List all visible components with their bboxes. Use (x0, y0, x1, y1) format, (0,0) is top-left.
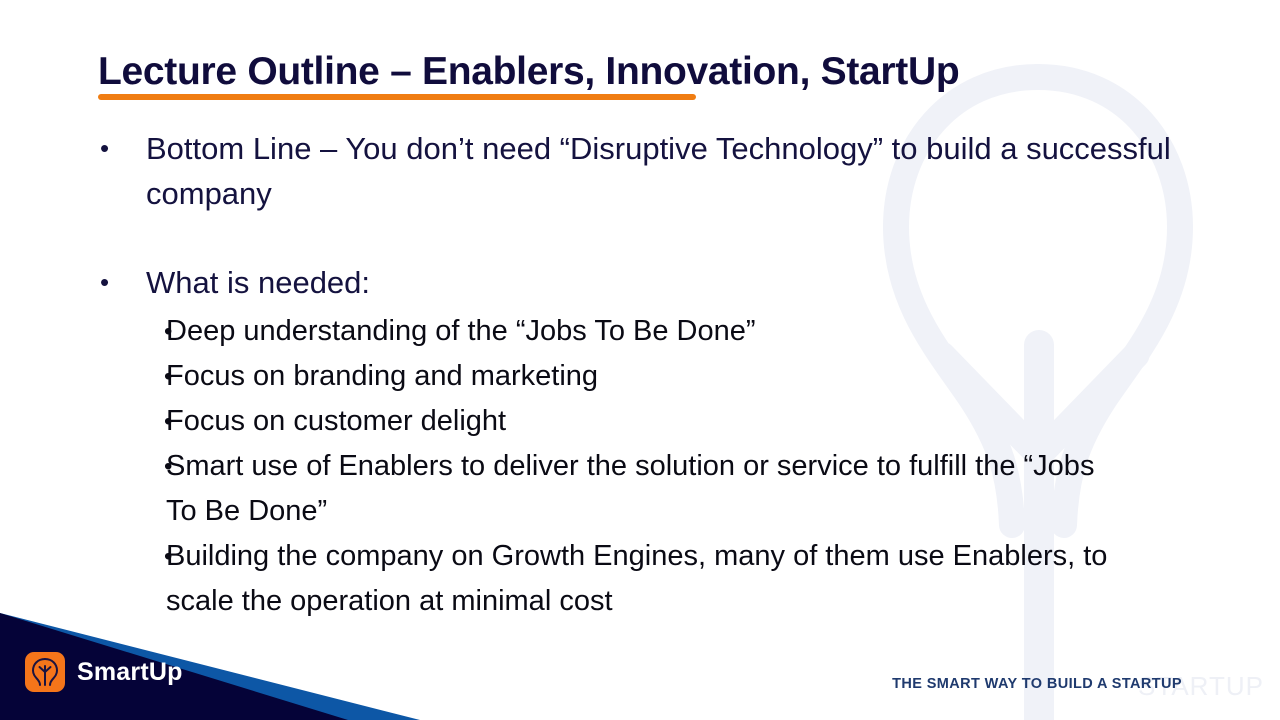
list-item-label: Focus on customer delight (166, 399, 1126, 444)
list-item: • What is needed: (96, 260, 1206, 305)
slide-canvas: STARTUP Lecture Outline – Enablers, Inno… (0, 0, 1280, 720)
bullet-glyph-icon: • (96, 534, 166, 579)
list-item: • Bottom Line – You don’t need “Disrupti… (96, 126, 1206, 216)
bullet-glyph-icon: • (96, 309, 166, 354)
sub-list: • Deep understanding of the “Jobs To Be … (96, 309, 1206, 624)
bullet-glyph-icon: • (96, 444, 166, 489)
list-item-label: Bottom Line – You don’t need “Disruptive… (146, 126, 1176, 216)
list-item-label: Focus on branding and marketing (166, 354, 1126, 399)
brand-logo: SmartUp (25, 652, 183, 692)
bullet-glyph-icon: • (96, 399, 166, 444)
content-spacer (96, 218, 1206, 260)
bullet-glyph-icon: • (96, 354, 166, 399)
bullet-glyph-icon: • (96, 260, 146, 305)
slide-body: • Bottom Line – You don’t need “Disrupti… (96, 126, 1206, 624)
list-item: • Deep understanding of the “Jobs To Be … (96, 309, 1206, 354)
footer-tagline: THE SMART WAY TO BUILD A STARTUP (892, 676, 1182, 692)
list-item-label: Smart use of Enablers to deliver the sol… (166, 444, 1126, 534)
bullet-glyph-icon: • (96, 126, 146, 171)
list-item: • Focus on branding and marketing (96, 354, 1206, 399)
list-item-label: Deep understanding of the “Jobs To Be Do… (166, 309, 1126, 354)
smartup-logo-icon (25, 652, 65, 692)
list-item: • Smart use of Enablers to deliver the s… (96, 444, 1206, 534)
brand-name-label: SmartUp (77, 660, 183, 685)
list-item: • Focus on customer delight (96, 399, 1206, 444)
list-item-label: What is needed: (146, 260, 1176, 305)
page-title: Lecture Outline – Enablers, Innovation, … (98, 50, 959, 94)
title-underline-rule (98, 94, 696, 100)
